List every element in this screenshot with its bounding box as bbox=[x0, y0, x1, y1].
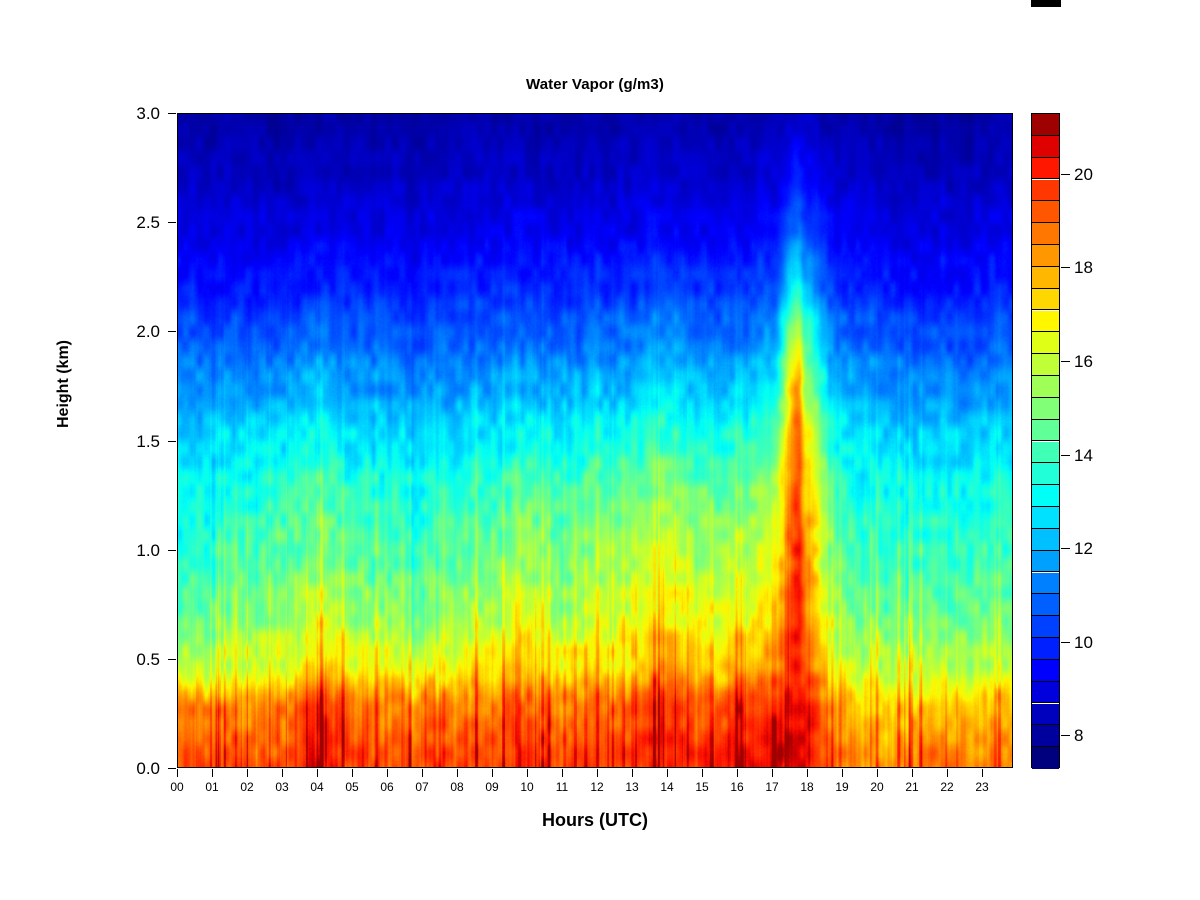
colorbar-tick-label: 20 bbox=[1074, 166, 1120, 183]
colorbar-band bbox=[1032, 529, 1059, 551]
colorbar-tick-label: 14 bbox=[1074, 447, 1120, 464]
x-tick-mark bbox=[527, 769, 528, 777]
top-right-black-bar bbox=[1031, 0, 1061, 7]
x-tick-mark bbox=[492, 769, 493, 777]
colorbar-band bbox=[1032, 704, 1059, 726]
x-tick-mark bbox=[387, 769, 388, 777]
y-axis-title: Height (km) bbox=[55, 284, 77, 484]
colorbar-tick-label: 10 bbox=[1074, 634, 1120, 651]
x-tick-label: 05 bbox=[332, 781, 372, 793]
x-tick-mark bbox=[562, 769, 563, 777]
colorbar-band bbox=[1032, 332, 1059, 354]
x-tick-label: 09 bbox=[472, 781, 512, 793]
x-tick-label: 14 bbox=[647, 781, 687, 793]
y-tick-label: 1.5 bbox=[114, 433, 160, 450]
colorbar-tick-mark bbox=[1061, 735, 1070, 736]
y-tick-mark bbox=[168, 331, 176, 332]
colorbar-tick-mark bbox=[1061, 267, 1070, 268]
colorbar-tick-mark bbox=[1061, 548, 1070, 549]
colorbar-tick-mark bbox=[1061, 455, 1070, 456]
heatmap-panel bbox=[177, 113, 1013, 768]
y-tick-label: 1.0 bbox=[114, 542, 160, 559]
x-tick-mark bbox=[877, 769, 878, 777]
x-tick-label: 08 bbox=[437, 781, 477, 793]
y-tick-mark bbox=[168, 441, 176, 442]
colorbar-band bbox=[1032, 442, 1059, 464]
colorbar-band bbox=[1032, 398, 1059, 420]
colorbar-tick-mark bbox=[1061, 174, 1070, 175]
colorbar-band bbox=[1032, 725, 1059, 747]
x-tick-label: 11 bbox=[542, 781, 582, 793]
colorbar-band bbox=[1032, 485, 1059, 507]
x-tick-label: 12 bbox=[577, 781, 617, 793]
colorbar-tick-label: 12 bbox=[1074, 540, 1120, 557]
x-tick-mark bbox=[947, 769, 948, 777]
x-tick-label: 16 bbox=[717, 781, 757, 793]
x-tick-label: 06 bbox=[367, 781, 407, 793]
x-tick-label: 15 bbox=[682, 781, 722, 793]
colorbar-band bbox=[1032, 354, 1059, 376]
x-tick-label: 18 bbox=[787, 781, 827, 793]
y-tick-mark bbox=[168, 550, 176, 551]
x-tick-mark bbox=[597, 769, 598, 777]
colorbar-tick-mark bbox=[1061, 642, 1070, 643]
x-tick-mark bbox=[702, 769, 703, 777]
colorbar-band bbox=[1032, 136, 1059, 158]
x-tick-label: 19 bbox=[822, 781, 862, 793]
x-tick-label: 20 bbox=[857, 781, 897, 793]
page-title: Water Vapor (g/m3) bbox=[177, 76, 1013, 93]
y-tick-label: 2.5 bbox=[114, 214, 160, 231]
x-tick-mark bbox=[982, 769, 983, 777]
colorbar-band bbox=[1032, 573, 1059, 595]
colorbar-band bbox=[1032, 463, 1059, 485]
x-tick-label: 23 bbox=[962, 781, 1002, 793]
colorbar-band bbox=[1032, 594, 1059, 616]
colorbar-band bbox=[1032, 245, 1059, 267]
colorbar-band bbox=[1032, 616, 1059, 638]
x-tick-mark bbox=[247, 769, 248, 777]
x-tick-label: 10 bbox=[507, 781, 547, 793]
colorbar-band bbox=[1032, 289, 1059, 311]
x-tick-mark bbox=[667, 769, 668, 777]
x-tick-label: 04 bbox=[297, 781, 337, 793]
figure-canvas: Water Vapor (g/m3) 0.00.51.01.52.02.53.0… bbox=[0, 0, 1200, 900]
colorbar-band bbox=[1032, 747, 1059, 769]
x-tick-mark bbox=[352, 769, 353, 777]
colorbar-band bbox=[1032, 660, 1059, 682]
x-tick-mark bbox=[317, 769, 318, 777]
x-tick-mark bbox=[737, 769, 738, 777]
x-tick-label: 21 bbox=[892, 781, 932, 793]
colorbar-tick-label: 18 bbox=[1074, 259, 1120, 276]
x-tick-label: 13 bbox=[612, 781, 652, 793]
colorbar-tick-mark bbox=[1061, 361, 1070, 362]
colorbar-band bbox=[1032, 551, 1059, 573]
colorbar-band bbox=[1032, 682, 1059, 704]
x-tick-mark bbox=[282, 769, 283, 777]
colorbar-band bbox=[1032, 507, 1059, 529]
y-tick-mark bbox=[168, 222, 176, 223]
y-tick-mark bbox=[168, 659, 176, 660]
x-tick-label: 00 bbox=[157, 781, 197, 793]
x-tick-mark bbox=[772, 769, 773, 777]
x-axis-title: Hours (UTC) bbox=[177, 810, 1013, 831]
x-tick-label: 03 bbox=[262, 781, 302, 793]
x-tick-label: 17 bbox=[752, 781, 792, 793]
colorbar-band bbox=[1032, 420, 1059, 442]
y-tick-label: 0.5 bbox=[114, 651, 160, 668]
colorbar-band bbox=[1032, 638, 1059, 660]
colorbar-tick-label: 8 bbox=[1074, 727, 1120, 744]
colorbar-band bbox=[1032, 376, 1059, 398]
x-tick-mark bbox=[212, 769, 213, 777]
colorbar-band bbox=[1032, 180, 1059, 202]
x-tick-mark bbox=[422, 769, 423, 777]
colorbar-band bbox=[1032, 267, 1059, 289]
x-tick-label: 22 bbox=[927, 781, 967, 793]
x-tick-mark bbox=[912, 769, 913, 777]
x-tick-label: 02 bbox=[227, 781, 267, 793]
y-tick-label: 2.0 bbox=[114, 323, 160, 340]
x-tick-mark bbox=[632, 769, 633, 777]
y-tick-mark bbox=[168, 768, 176, 769]
x-tick-mark bbox=[177, 769, 178, 777]
colorbar-band bbox=[1032, 201, 1059, 223]
y-tick-label: 3.0 bbox=[114, 105, 160, 122]
y-tick-label: 0.0 bbox=[114, 760, 160, 777]
x-tick-mark bbox=[457, 769, 458, 777]
x-tick-mark bbox=[807, 769, 808, 777]
colorbar bbox=[1031, 113, 1060, 768]
colorbar-band bbox=[1032, 158, 1059, 180]
water-vapor-heatmap bbox=[178, 114, 1012, 767]
x-tick-label: 07 bbox=[402, 781, 442, 793]
colorbar-band bbox=[1032, 114, 1059, 136]
colorbar-tick-label: 16 bbox=[1074, 353, 1120, 370]
colorbar-band bbox=[1032, 311, 1059, 333]
x-tick-label: 01 bbox=[192, 781, 232, 793]
colorbar-band bbox=[1032, 223, 1059, 245]
y-tick-mark bbox=[168, 113, 176, 114]
x-tick-mark bbox=[842, 769, 843, 777]
